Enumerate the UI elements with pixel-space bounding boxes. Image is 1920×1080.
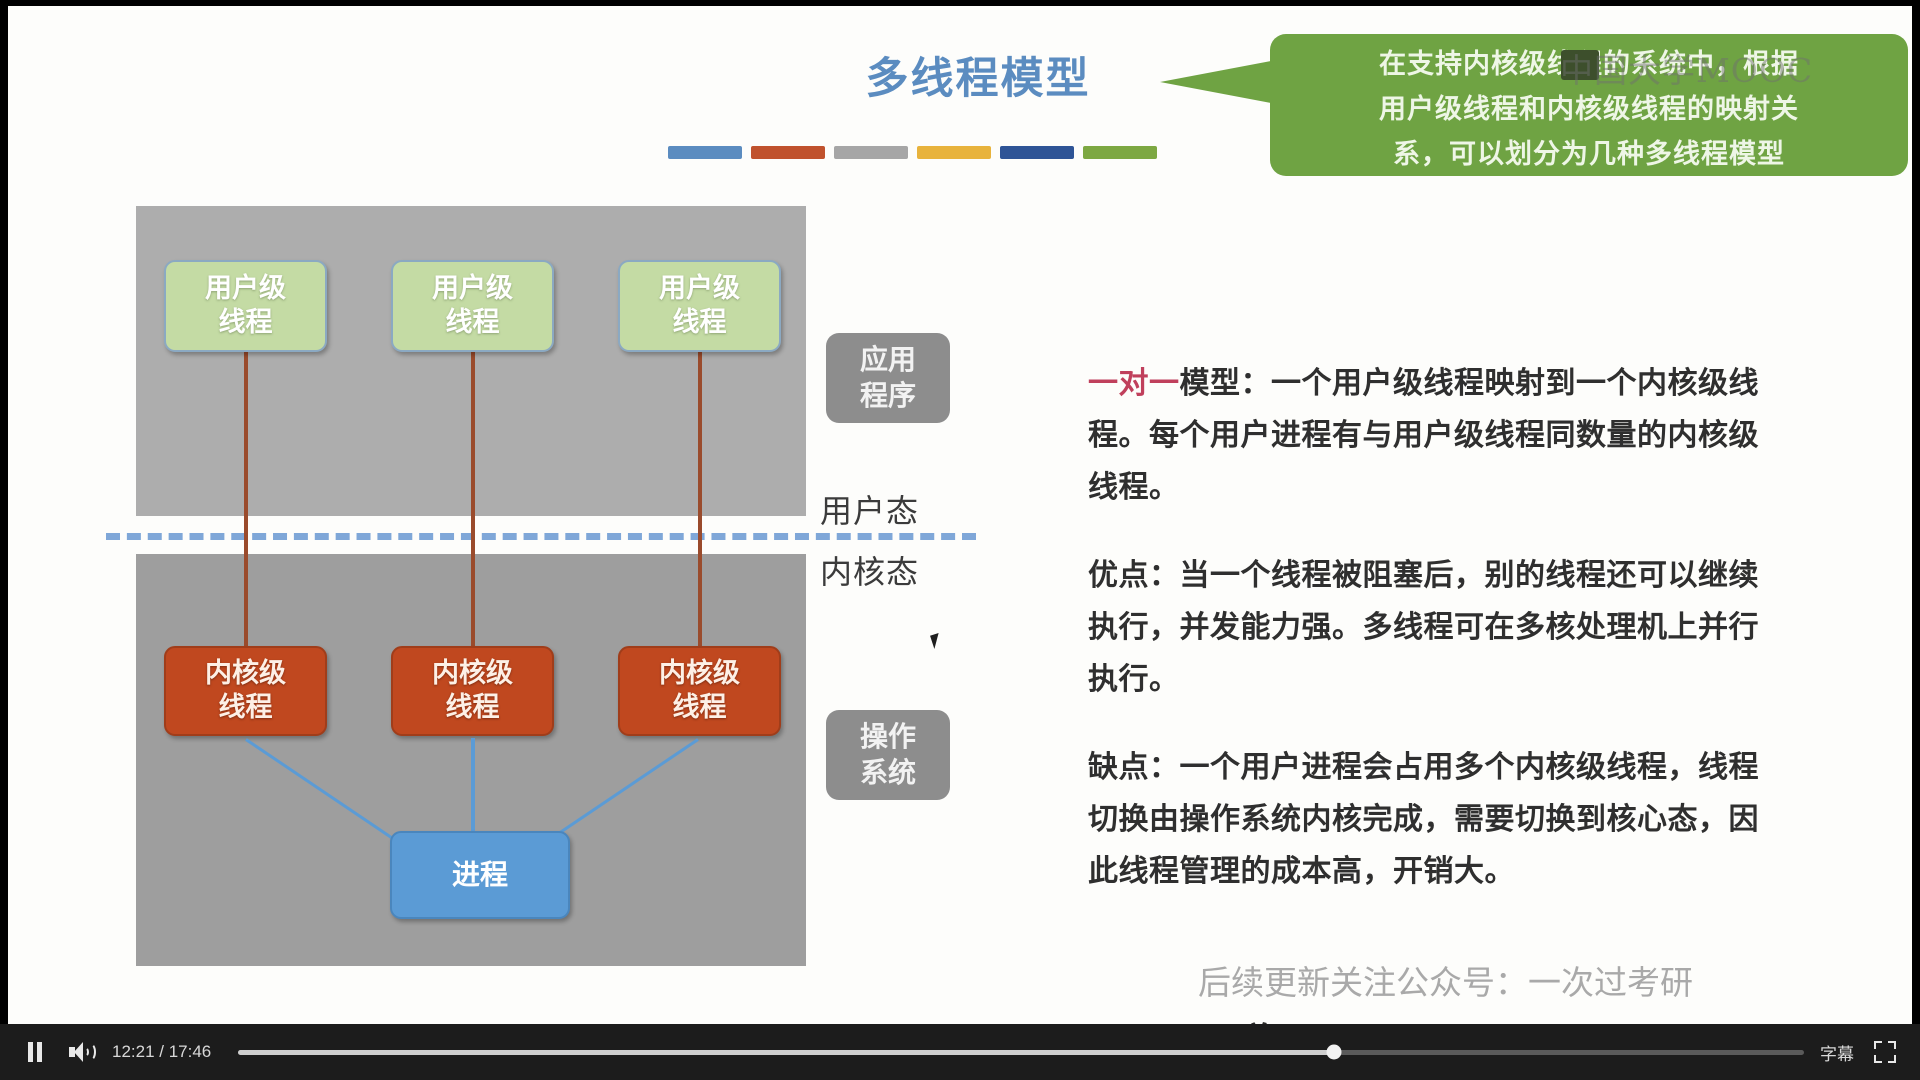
label-user-mode: 用户态 — [820, 486, 919, 532]
callout-line-2: 系，可以划分为几种多线程模型 — [1288, 132, 1890, 177]
map-line-1 — [244, 350, 248, 648]
user-thread-node-2: 用户级 线程 — [391, 260, 554, 352]
player-control-bar: 12:21 / 17:46 字幕 — [0, 1024, 1920, 1080]
title-bar-4 — [1000, 146, 1074, 159]
label-kernel-mode: 内核态 — [820, 547, 919, 593]
paragraph-disadvantages: 缺点：一个用户进程会占用多个内核级线程，线程切换由操作系统内核完成，需要切换到核… — [1088, 742, 1788, 898]
map-line-3 — [698, 350, 702, 648]
progress-knob[interactable] — [1327, 1045, 1342, 1060]
volume-icon — [69, 1042, 93, 1062]
page-title: 多线程模型 — [828, 44, 1128, 106]
process-link-2 — [471, 738, 475, 832]
paragraph-one-to-one-rest: 模型：一个用户级线程映射到一个内核级线程。每个用户进程有与用户级线程同数量的内核… — [1088, 366, 1759, 505]
fullscreen-icon — [1874, 1041, 1896, 1063]
title-bar-0 — [668, 146, 742, 159]
kernel-thread-node-2: 内核级 线程 — [391, 646, 554, 736]
kernel-thread-node-1: 内核级 线程 — [164, 646, 327, 736]
mooc-watermark: 中国大学MOOC — [1560, 44, 1813, 92]
pause-button[interactable] — [20, 1037, 50, 1067]
label-operating-system: 操作 系统 — [826, 710, 950, 800]
progress-track — [238, 1050, 1804, 1055]
label-application: 应用 程序 — [826, 333, 950, 423]
pause-icon — [27, 1042, 43, 1062]
mouse-cursor-icon — [930, 633, 943, 649]
title-bar-5 — [1083, 146, 1157, 159]
title-bar-1 — [751, 146, 825, 159]
title-decor-bars — [668, 146, 1157, 159]
callout-line-1: 用户级线程和内核级线程的映射关 — [1288, 87, 1890, 132]
process-node: 进程 — [390, 831, 570, 919]
paragraph-one-to-one: 一对一模型：一个用户级线程映射到一个内核级线程。每个用户进程有与用户级线程同数量… — [1088, 358, 1788, 514]
highlight-one-to-one: 一对一 — [1088, 366, 1180, 401]
kernel-thread-node-3: 内核级 线程 — [618, 646, 781, 736]
progress-bar[interactable] — [238, 1045, 1804, 1059]
user-thread-node-3: 用户级 线程 — [618, 260, 781, 352]
time-display: 12:21 / 17:46 — [112, 1042, 222, 1062]
video-player: 多线程模型 在支持内核级线程的系统中，根据 用户级线程和内核级线程的映射关 系，… — [0, 0, 1920, 1080]
map-line-2 — [471, 350, 475, 648]
volume-button[interactable] — [66, 1037, 96, 1067]
promo-watermark: 后续更新关注公众号：一次过考研 — [1198, 956, 1693, 1004]
subtitles-button[interactable]: 字幕 — [1820, 1040, 1854, 1065]
title-bar-2 — [834, 146, 908, 159]
fullscreen-button[interactable] — [1870, 1037, 1900, 1067]
paragraph-advantages: 优点：当一个线程被阻塞后，别的线程还可以继续执行，并发能力强。多线程可在多核处理… — [1088, 550, 1788, 706]
user-kernel-divider — [106, 533, 976, 540]
progress-fill — [238, 1050, 1334, 1055]
callout-tail-icon — [1160, 60, 1276, 104]
explanation-text: 一对一模型：一个用户级线程映射到一个内核级线程。每个用户进程有与用户级线程同数量… — [1088, 358, 1788, 934]
title-bar-3 — [917, 146, 991, 159]
slide-canvas: 多线程模型 在支持内核级线程的系统中，根据 用户级线程和内核级线程的映射关 系，… — [8, 6, 1912, 1025]
user-thread-node-1: 用户级 线程 — [164, 260, 327, 352]
